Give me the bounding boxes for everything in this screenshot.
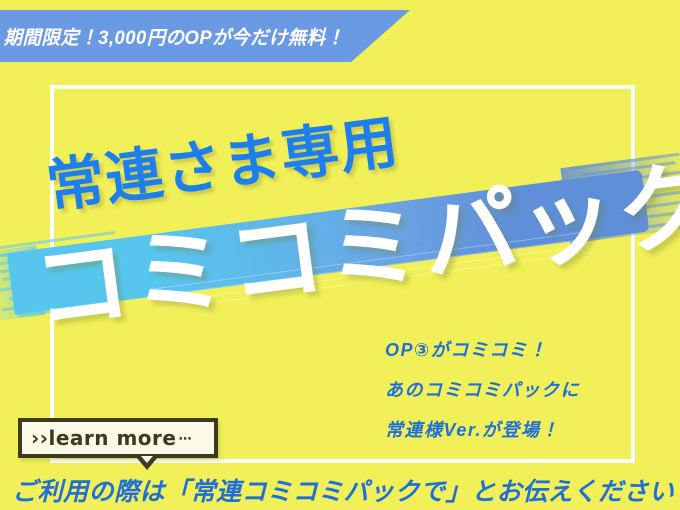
ribbon-text: 期間限定！3,000円のOPが今だけ無料！ <box>0 23 345 50</box>
usage-note: ご利用の際は「常連コミコミパックで」とお伝えください！ <box>12 472 680 508</box>
copy-line-1: OP③がコミコミ！ <box>385 330 625 370</box>
learn-more-text: learn more <box>48 426 176 450</box>
learn-more-button[interactable]: ››learn more⋯ <box>18 418 218 458</box>
speech-bubble-tail-inner <box>141 456 153 463</box>
limited-time-ribbon: 期間限定！3,000円のOPが今だけ無料！ <box>0 10 410 62</box>
copy-block: OP③がコミコミ！ あのコミコミパックに 常連様Ver.が登場！ <box>385 330 625 450</box>
double-chevron-right-icon: ›› <box>31 426 48 450</box>
learn-more-label: ››learn more⋯ <box>22 426 192 450</box>
ellipsis-icon: ⋯ <box>178 432 192 447</box>
copy-line-2: あのコミコミパックに <box>385 370 625 410</box>
copy-line-3: 常連様Ver.が登場！ <box>385 410 625 450</box>
promo-banner: 期間限定！3,000円のOPが今だけ無料！ 常連さま専用 コミコミパック OP③… <box>0 0 680 510</box>
